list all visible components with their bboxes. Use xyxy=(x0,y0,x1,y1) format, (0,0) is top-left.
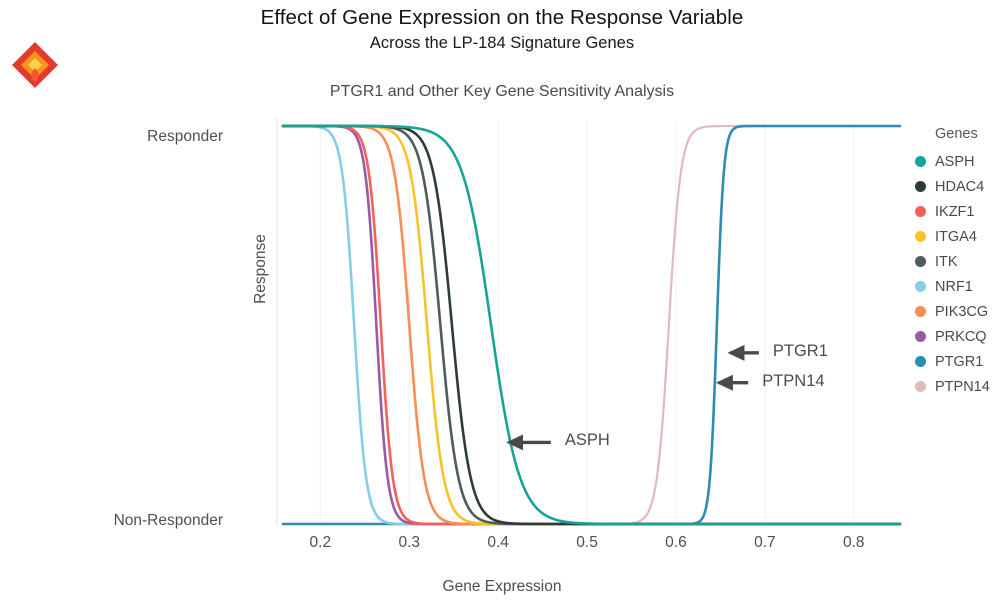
legend-swatch-icon xyxy=(915,381,926,392)
legend-swatch-icon xyxy=(915,181,926,192)
legend-items: ASPHHDAC4IKZF1ITGA4ITKNRF1PIK3CGPRKCQPTG… xyxy=(915,149,1004,399)
legend: Genes ASPHHDAC4IKZF1ITGA4ITKNRF1PIK3CGPR… xyxy=(915,126,1004,399)
y-tick-non-responder: Non-Responder xyxy=(114,512,223,530)
chart-canvas: Effect of Gene Expression on the Respons… xyxy=(0,0,1004,610)
curve-prkcq xyxy=(283,126,900,524)
x-tick-4: 0.6 xyxy=(646,534,706,552)
legend-label: PRKCQ xyxy=(935,329,987,345)
y-axis-title: Response xyxy=(252,199,270,339)
legend-swatch-icon xyxy=(915,281,926,292)
legend-label: PTPN14 xyxy=(935,379,990,395)
legend-title: Genes xyxy=(935,126,1004,142)
annotation-label-ptpn14: PTPN14 xyxy=(762,372,824,391)
legend-swatch-icon xyxy=(915,331,926,342)
x-tick-3: 0.5 xyxy=(557,534,617,552)
annotation-arrows xyxy=(509,353,759,443)
legend-swatch-icon xyxy=(915,306,926,317)
legend-swatch-icon xyxy=(915,156,926,167)
gridlines xyxy=(320,122,853,524)
legend-item-ptpn14[interactable]: PTPN14 xyxy=(915,374,1004,399)
legend-item-ikzf1[interactable]: IKZF1 xyxy=(915,199,1004,224)
y-tick-responder: Responder xyxy=(147,128,223,146)
legend-item-nrf1[interactable]: NRF1 xyxy=(915,274,1004,299)
legend-item-prkcq[interactable]: PRKCQ xyxy=(915,324,1004,349)
x-tick-0: 0.2 xyxy=(290,534,350,552)
legend-label: NRF1 xyxy=(935,279,973,295)
legend-item-itk[interactable]: ITK xyxy=(915,249,1004,274)
legend-swatch-icon xyxy=(915,356,926,367)
x-axis-title: Gene Expression xyxy=(0,578,1004,596)
legend-item-hdac4[interactable]: HDAC4 xyxy=(915,174,1004,199)
legend-swatch-icon xyxy=(915,231,926,242)
legend-label: IKZF1 xyxy=(935,204,974,220)
legend-label: HDAC4 xyxy=(935,179,984,195)
legend-swatch-icon xyxy=(915,256,926,267)
legend-label: PIK3CG xyxy=(935,304,988,320)
x-tick-1: 0.3 xyxy=(379,534,439,552)
legend-item-itga4[interactable]: ITGA4 xyxy=(915,224,1004,249)
x-tick-6: 0.8 xyxy=(824,534,884,552)
x-tick-5: 0.7 xyxy=(735,534,795,552)
legend-item-pik3cg[interactable]: PIK3CG xyxy=(915,299,1004,324)
legend-item-asph[interactable]: ASPH xyxy=(915,149,1004,174)
annotation-label-asph: ASPH xyxy=(565,431,610,450)
series-curves xyxy=(283,126,900,524)
legend-label: ITK xyxy=(935,254,958,270)
legend-label: ASPH xyxy=(935,154,975,170)
annotation-label-ptgr1: PTGR1 xyxy=(773,342,828,361)
legend-swatch-icon xyxy=(915,206,926,217)
legend-item-ptgr1[interactable]: PTGR1 xyxy=(915,349,1004,374)
x-tick-2: 0.4 xyxy=(468,534,528,552)
legend-label: ITGA4 xyxy=(935,229,977,245)
legend-label: PTGR1 xyxy=(935,354,983,370)
